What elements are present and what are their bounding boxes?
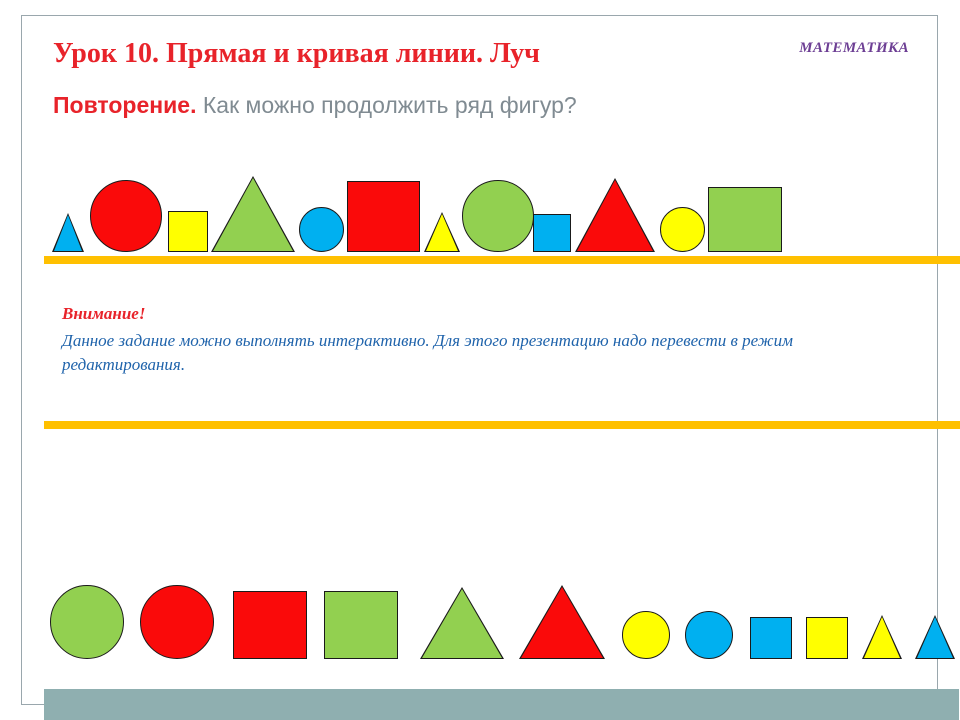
circle-glyph [299,207,344,252]
square-glyph [806,617,848,659]
top-triangle-3[interactable] [211,176,295,252]
circle-glyph [660,207,705,252]
triangle-glyph [521,587,603,658]
top-circle-1[interactable] [90,180,162,252]
subtitle: Повторение. Как можно продолжить ряд фиг… [53,92,577,119]
triangle-glyph [422,589,502,658]
circle-glyph [685,611,733,659]
top-triangle-0[interactable] [52,213,85,252]
triangle-glyph [54,215,82,251]
triangle-glyph [213,178,293,251]
circle-glyph [90,180,162,252]
circle-glyph [50,585,124,659]
circle-glyph [140,585,214,659]
note-title: Внимание! [62,302,852,327]
triangle-glyph [426,214,458,251]
subtitle-lead: Повторение. [53,92,196,118]
square-glyph [324,591,398,659]
triangle-glyph [577,180,653,251]
top-square-5[interactable] [347,181,420,252]
top-square-8[interactable] [533,214,571,252]
bottom-triangle-4[interactable] [420,587,504,659]
bottom-triangle-5[interactable] [519,585,605,659]
slide-frame: Урок 10. Прямая и кривая линии. Луч МАТЕ… [21,15,938,705]
bottom-square-9[interactable] [806,617,848,659]
bottom-square-2[interactable] [233,591,307,659]
page-title: Урок 10. Прямая и кривая линии. Луч [53,38,540,70]
square-glyph [708,187,782,252]
bottom-circle-7[interactable] [685,611,733,659]
note-block: Внимание! Данное задание можно выполнять… [62,302,852,378]
triangle-glyph [864,617,900,658]
square-glyph [533,214,571,252]
top-square-11[interactable] [708,187,782,252]
shape-row-top[interactable] [22,166,960,252]
bottom-circle-1[interactable] [140,585,214,659]
top-triangle-9[interactable] [575,178,656,252]
footer-bar [44,689,959,720]
circle-glyph [462,180,534,252]
bottom-square-3[interactable] [324,591,398,659]
top-circle-4[interactable] [299,207,344,252]
top-triangle-6[interactable] [424,212,460,252]
divider-bar-bottom [44,421,960,429]
square-glyph [347,181,420,252]
slide-canvas: Урок 10. Прямая и кривая линии. Луч МАТЕ… [0,0,960,720]
shape-row-bottom[interactable] [22,571,960,659]
divider-bar-top [44,256,960,264]
note-body: Данное задание можно выполнять интеракти… [62,329,852,378]
subtitle-question: Как можно продолжить ряд фигур? [203,92,577,118]
triangle-glyph [917,617,953,658]
top-circle-10[interactable] [660,207,705,252]
bottom-circle-6[interactable] [622,611,670,659]
bottom-triangle-10[interactable] [862,615,902,659]
square-glyph [750,617,792,659]
bottom-circle-0[interactable] [50,585,124,659]
top-circle-7[interactable] [462,180,534,252]
bottom-square-8[interactable] [750,617,792,659]
square-glyph [168,211,208,252]
square-glyph [233,591,307,659]
circle-glyph [622,611,670,659]
bottom-triangle-11[interactable] [915,615,955,659]
top-square-2[interactable] [168,211,208,252]
subject-label: МАТЕМАТИКА [799,40,909,57]
